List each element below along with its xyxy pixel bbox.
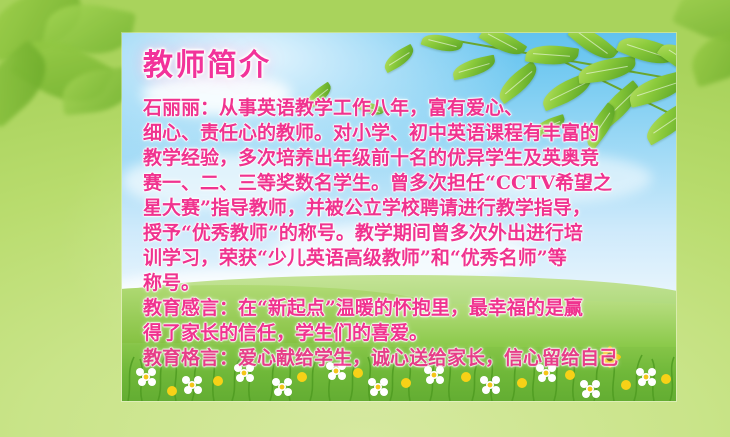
profile-line: 训学习，荣获“少儿英语高级教师”和“优秀名师”等 bbox=[143, 246, 663, 271]
profile-line: 称号。 bbox=[143, 271, 663, 296]
profile-line: 细心、责任心的教师。对小学、初中英语课程有丰富的 bbox=[143, 121, 663, 146]
profile-body: 石丽丽：从事英语教学工作八年，富有爱心、 细心、责任心的教师。对小学、初中英语课… bbox=[143, 96, 663, 371]
profile-line: 赛一、二、三等奖数名学生。曾多次担任“CCTV希望之 bbox=[143, 171, 663, 196]
poster-stage: 教师简介 石丽丽：从事英语教学工作八年，富有爱心、 细心、责任心的教师。对小学、… bbox=[0, 0, 730, 437]
page-title: 教师简介 bbox=[143, 40, 271, 84]
profile-line: 教育感言：在“新起点”温暖的怀抱里，最幸福的是赢 bbox=[143, 296, 663, 321]
profile-motto-line: 教育格言：爱心献给学生，诚心送给家长，信心留给自己 bbox=[143, 346, 663, 371]
profile-line: 星大赛”指导教师，并被公立学校聘请进行教学指导， bbox=[143, 196, 663, 221]
profile-line: 教学经验，多次培养出年级前十名的优异学生及英奥竞 bbox=[143, 146, 663, 171]
profile-line: 得了家长的信任，学生们的喜爱。 bbox=[143, 321, 663, 346]
profile-line: 石丽丽：从事英语教学工作八年，富有爱心、 bbox=[143, 96, 663, 121]
profile-line: 授予“优秀教师”的称号。教学期间曾多次外出进行培 bbox=[143, 221, 663, 246]
